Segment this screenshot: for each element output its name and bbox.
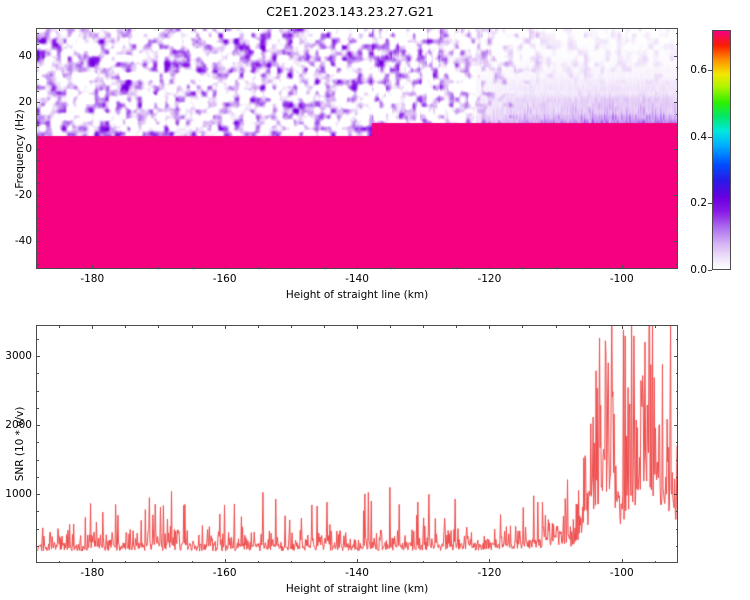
x-minor-tick-mark [390, 267, 391, 270]
y-tick-label: 1000 [4, 488, 32, 500]
y-minor-tick-mark [36, 114, 39, 115]
x-minor-tick-mark [324, 325, 325, 328]
y-tick-mark [36, 149, 40, 150]
y-minor-tick-mark [676, 264, 679, 265]
y-minor-tick-mark [676, 529, 679, 530]
x-minor-tick-mark [522, 325, 523, 328]
y-minor-tick-mark [36, 529, 39, 530]
y-tick-mark [36, 425, 40, 426]
spectrogram-plot-area [36, 28, 678, 269]
x-tick-label: -120 [477, 567, 501, 579]
x-tick-mark [92, 559, 93, 563]
x-tick-label: -100 [610, 567, 634, 579]
x-minor-tick-mark [390, 325, 391, 328]
x-tick-label: -100 [610, 273, 634, 285]
x-tick-label: -140 [345, 567, 369, 579]
x-minor-tick-mark [522, 28, 523, 31]
x-minor-tick-mark [423, 267, 424, 270]
x-tick-mark [622, 28, 623, 32]
y-minor-tick-mark [36, 218, 39, 219]
y-tick-mark [674, 195, 678, 196]
y-tick-mark [674, 149, 678, 150]
x-minor-tick-mark [324, 267, 325, 270]
y-tick-mark [674, 102, 678, 103]
x-minor-tick-mark [158, 325, 159, 328]
y-minor-tick-mark [36, 442, 39, 443]
x-minor-tick-mark [59, 325, 60, 328]
y-minor-tick-mark [676, 408, 679, 409]
colorbar-tick-mark [708, 203, 712, 204]
x-tick-mark [622, 265, 623, 269]
x-minor-tick-mark [655, 561, 656, 564]
x-minor-tick-mark [456, 561, 457, 564]
x-minor-tick-mark [158, 267, 159, 270]
y-minor-tick-mark [36, 391, 39, 392]
y-minor-tick-mark [36, 408, 39, 409]
y-minor-tick-mark [676, 67, 679, 68]
y-minor-tick-mark [676, 114, 679, 115]
spectrogram-xaxis-label: Height of straight line (km) [286, 289, 428, 301]
x-minor-tick-mark [423, 325, 424, 328]
y-tick-mark [674, 494, 678, 495]
y-minor-tick-mark [676, 125, 679, 126]
x-minor-tick-mark [192, 28, 193, 31]
x-tick-label: -180 [80, 567, 104, 579]
y-tick-label: -20 [4, 189, 32, 201]
x-minor-tick-mark [125, 28, 126, 31]
x-minor-tick-mark [423, 28, 424, 31]
x-tick-mark [489, 265, 490, 269]
y-minor-tick-mark [676, 183, 679, 184]
x-tick-mark [357, 559, 358, 563]
y-minor-tick-mark [36, 546, 39, 547]
x-tick-mark [357, 28, 358, 32]
x-minor-tick-mark [158, 28, 159, 31]
colorbar-tick-mark [708, 70, 712, 71]
y-minor-tick-mark [36, 460, 39, 461]
x-minor-tick-mark [291, 325, 292, 328]
y-minor-tick-mark [36, 183, 39, 184]
x-minor-tick-mark [258, 325, 259, 328]
x-minor-tick-mark [192, 561, 193, 564]
x-minor-tick-mark [59, 28, 60, 31]
y-minor-tick-mark [36, 373, 39, 374]
y-minor-tick-mark [36, 206, 39, 207]
x-minor-tick-mark [589, 561, 590, 564]
x-minor-tick-mark [556, 28, 557, 31]
y-minor-tick-mark [36, 33, 39, 34]
x-tick-label: -120 [477, 273, 501, 285]
x-tick-mark [622, 325, 623, 329]
y-minor-tick-mark [676, 160, 679, 161]
x-minor-tick-mark [456, 28, 457, 31]
y-minor-tick-mark [676, 33, 679, 34]
y-tick-mark [674, 425, 678, 426]
x-minor-tick-mark [125, 267, 126, 270]
y-minor-tick-mark [36, 477, 39, 478]
snr-yaxis-label: SNR (10 * v/v) [14, 407, 26, 482]
y-tick-mark [36, 102, 40, 103]
y-tick-label: 3000 [4, 350, 32, 362]
x-minor-tick-mark [390, 561, 391, 564]
y-tick-mark [674, 356, 678, 357]
x-minor-tick-mark [324, 561, 325, 564]
x-minor-tick-mark [556, 325, 557, 328]
snr-line-trace [37, 326, 677, 562]
x-tick-mark [622, 559, 623, 563]
colorbar-image [713, 31, 730, 269]
y-minor-tick-mark [676, 339, 679, 340]
x-minor-tick-mark [258, 561, 259, 564]
x-tick-mark [92, 325, 93, 329]
x-minor-tick-mark [522, 267, 523, 270]
colorbar-tick-mark [708, 137, 712, 138]
y-minor-tick-mark [676, 460, 679, 461]
y-minor-tick-mark [676, 391, 679, 392]
x-minor-tick-mark [258, 267, 259, 270]
x-minor-tick-mark [655, 267, 656, 270]
y-minor-tick-mark [676, 206, 679, 207]
y-minor-tick-mark [36, 160, 39, 161]
x-minor-tick-mark [192, 325, 193, 328]
y-minor-tick-mark [36, 253, 39, 254]
x-minor-tick-mark [456, 325, 457, 328]
y-minor-tick-mark [676, 218, 679, 219]
y-minor-tick-mark [676, 137, 679, 138]
x-tick-mark [225, 265, 226, 269]
x-tick-mark [489, 28, 490, 32]
y-tick-mark [674, 56, 678, 57]
y-minor-tick-mark [36, 125, 39, 126]
y-minor-tick-mark [676, 79, 679, 80]
snr-plot-area [36, 325, 678, 563]
y-tick-mark [36, 56, 40, 57]
colorbar-tick-label: 0.2 [680, 197, 707, 209]
x-minor-tick-mark [390, 28, 391, 31]
x-minor-tick-mark [291, 561, 292, 564]
snr-xaxis-label: Height of straight line (km) [286, 583, 428, 595]
y-tick-mark [36, 241, 40, 242]
x-minor-tick-mark [456, 267, 457, 270]
x-minor-tick-mark [125, 561, 126, 564]
y-tick-mark [36, 195, 40, 196]
colorbar-tick-label: 0.4 [680, 131, 707, 143]
x-minor-tick-mark [258, 28, 259, 31]
x-minor-tick-mark [423, 561, 424, 564]
y-minor-tick-mark [36, 79, 39, 80]
x-tick-mark [92, 265, 93, 269]
x-minor-tick-mark [291, 267, 292, 270]
figure-title: C2E1.2023.143.23.27.G21 [0, 4, 700, 19]
y-minor-tick-mark [36, 172, 39, 173]
y-minor-tick-mark [36, 264, 39, 265]
spectrogram-yaxis-label: Frequency (Hz) [14, 109, 26, 188]
y-minor-tick-mark [676, 511, 679, 512]
y-minor-tick-mark [676, 373, 679, 374]
y-minor-tick-mark [676, 546, 679, 547]
y-minor-tick-mark [36, 137, 39, 138]
y-tick-mark [36, 356, 40, 357]
y-minor-tick-mark [676, 172, 679, 173]
x-tick-mark [225, 28, 226, 32]
x-minor-tick-mark [655, 28, 656, 31]
x-minor-tick-mark [655, 325, 656, 328]
x-tick-mark [357, 265, 358, 269]
x-tick-mark [92, 28, 93, 32]
x-tick-mark [489, 559, 490, 563]
x-minor-tick-mark [192, 267, 193, 270]
x-minor-tick-mark [589, 325, 590, 328]
colorbar-tick-mark [708, 270, 712, 271]
x-tick-mark [225, 559, 226, 563]
x-tick-mark [489, 325, 490, 329]
y-minor-tick-mark [36, 339, 39, 340]
x-tick-mark [225, 325, 226, 329]
spectrogram-image [37, 29, 677, 268]
y-tick-label: -40 [4, 235, 32, 247]
y-minor-tick-mark [676, 230, 679, 231]
x-minor-tick-mark [556, 267, 557, 270]
x-minor-tick-mark [589, 267, 590, 270]
y-minor-tick-mark [676, 253, 679, 254]
x-minor-tick-mark [522, 561, 523, 564]
colorbar-tick-label: 0.6 [680, 64, 707, 76]
y-minor-tick-mark [676, 477, 679, 478]
x-tick-label: -180 [80, 273, 104, 285]
y-minor-tick-mark [36, 230, 39, 231]
x-minor-tick-mark [59, 561, 60, 564]
y-minor-tick-mark [36, 511, 39, 512]
y-minor-tick-mark [676, 442, 679, 443]
x-minor-tick-mark [589, 28, 590, 31]
x-minor-tick-mark [158, 561, 159, 564]
x-minor-tick-mark [291, 28, 292, 31]
x-tick-mark [357, 325, 358, 329]
x-minor-tick-mark [556, 561, 557, 564]
y-tick-label: 40 [4, 50, 32, 62]
x-minor-tick-mark [59, 267, 60, 270]
y-tick-label: 20 [4, 96, 32, 108]
y-minor-tick-mark [36, 67, 39, 68]
y-tick-mark [36, 494, 40, 495]
colorbar-gradient [712, 30, 731, 270]
x-minor-tick-mark [125, 325, 126, 328]
x-tick-label: -160 [213, 567, 237, 579]
y-minor-tick-mark [676, 91, 679, 92]
x-minor-tick-mark [324, 28, 325, 31]
y-tick-mark [674, 241, 678, 242]
x-tick-label: -140 [345, 273, 369, 285]
y-minor-tick-mark [676, 44, 679, 45]
y-minor-tick-mark [36, 91, 39, 92]
y-minor-tick-mark [36, 44, 39, 45]
colorbar-tick-label: 0.0 [680, 264, 707, 276]
x-tick-label: -160 [213, 273, 237, 285]
